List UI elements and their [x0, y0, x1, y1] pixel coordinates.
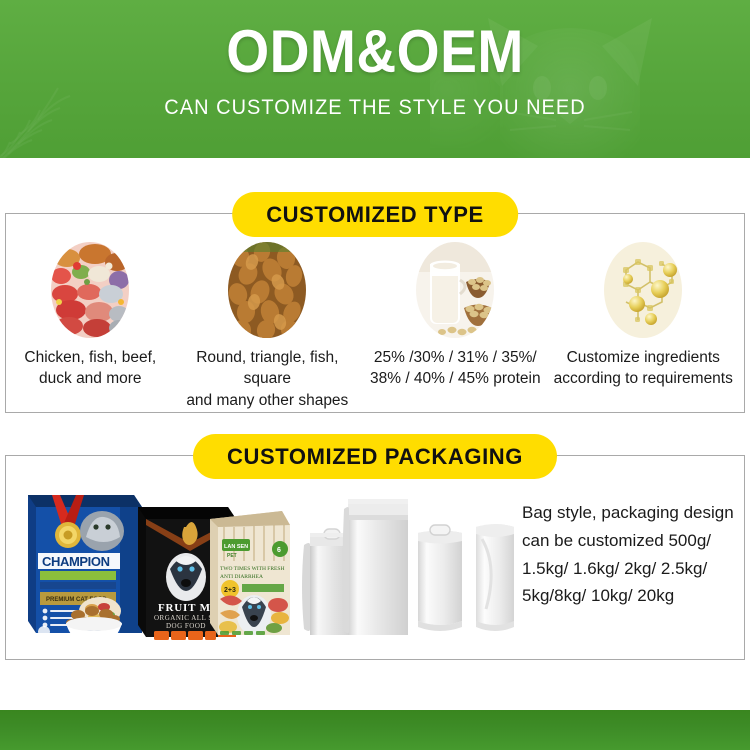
customized-type-badge: CUSTOMIZED TYPE: [232, 192, 518, 237]
svg-text:CHAMPION: CHAMPION: [42, 554, 110, 569]
customized-type-section: CUSTOMIZED TYPE: [5, 213, 745, 413]
type-item-custom-ingredients[interactable]: Customize ingredients according to requi…: [547, 242, 740, 404]
customized-type-grid: Chicken, fish, beef, duck and more: [6, 214, 744, 412]
champion-cat-food-bag: CHAMPION PREMIUM CAT FOOD: [28, 495, 142, 638]
oil-molecule-droplets-photo: [604, 242, 682, 338]
caption-line: Chicken, fish, beef,: [24, 347, 156, 368]
caption-line: 38% / 40% / 45% protein: [370, 368, 541, 389]
caption-line: according to requirements: [554, 368, 733, 389]
svg-text:2+3: 2+3: [224, 587, 236, 594]
description-line: 1.5kg/ 1.6kg/ 2kg/ 2.5kg/: [522, 555, 734, 583]
banner-subtitle: CAN CUSTOMIZE THE STYLE YOU NEED: [19, 96, 732, 120]
type-item-protein-source[interactable]: Chicken, fish, beef, duck and more: [10, 242, 171, 404]
description-line: can be customized 500g/: [522, 527, 734, 555]
svg-text:LAN SEN: LAN SEN: [224, 544, 248, 550]
type-item-caption: Round, triangle, fish, square and many o…: [171, 347, 364, 411]
kibble-pellets-photo: [228, 242, 306, 338]
caption-line: and many other shapes: [174, 390, 361, 411]
type-item-kibble-shape[interactable]: Round, triangle, fish, square and many o…: [171, 242, 364, 404]
svg-text:PET: PET: [227, 553, 237, 559]
blank-pouch-handle-medium: [418, 525, 462, 631]
svg-text:DOG FOOD: DOG FOOD: [166, 622, 206, 630]
svg-text:ANTI DIARRHEA: ANTI DIARRHEA: [220, 574, 263, 580]
type-item-caption: Customize ingredients according to requi…: [551, 347, 736, 390]
type-item-caption: Chicken, fish, beef, duck and more: [21, 347, 159, 390]
svg-text:TWO TIMES WITH FRESH: TWO TIMES WITH FRESH: [220, 566, 284, 572]
description-line: Bag style, packaging design: [522, 499, 734, 527]
description-line: 5kg/8kg/ 10kg/ 20kg: [522, 582, 734, 610]
footer-green-band: [0, 710, 750, 750]
packaging-images-group: CHAMPION PREMIUM CAT FOOD: [14, 465, 514, 650]
caption-line: Customize ingredients: [554, 347, 733, 368]
caption-line: duck and more: [24, 368, 156, 389]
caption-line: Round, triangle, fish, square: [174, 347, 361, 390]
packaging-description: Bag style, packaging design can be custo…: [514, 499, 734, 615]
milk-glass-soybeans-photo: [416, 242, 494, 338]
blank-pouch-standup-doypack: [476, 524, 514, 631]
svg-text:6: 6: [277, 547, 281, 554]
type-item-caption: 25% /30% / 31% / 35%/ 38% / 40% / 45% pr…: [367, 347, 544, 390]
raw-meat-fish-assortment-photo: [51, 242, 129, 338]
hero-banner: ODM&OEM CAN CUSTOMIZE THE STYLE YOU NEED: [0, 0, 750, 158]
banner-title: ODM&OEM: [30, 22, 720, 82]
customized-packaging-section: CUSTOMIZED PACKAGING: [5, 455, 745, 660]
customized-packaging-badge: CUSTOMIZED PACKAGING: [193, 434, 557, 479]
caption-line: 25% /30% / 31% / 35%/: [370, 347, 541, 368]
type-item-protein-percent[interactable]: 25% /30% / 31% / 35%/ 38% / 40% / 45% pr…: [364, 242, 547, 404]
lan-sen-pet-dog-food-bag: LAN SEN PET TWO TIMES WITH FRESH ANTI DI…: [210, 511, 290, 635]
packaging-body: CHAMPION PREMIUM CAT FOOD: [6, 456, 744, 659]
blank-pouch-flat-bottom-large: [343, 499, 409, 635]
banner-content: ODM&OEM CAN CUSTOMIZE THE STYLE YOU NEED: [0, 0, 750, 120]
